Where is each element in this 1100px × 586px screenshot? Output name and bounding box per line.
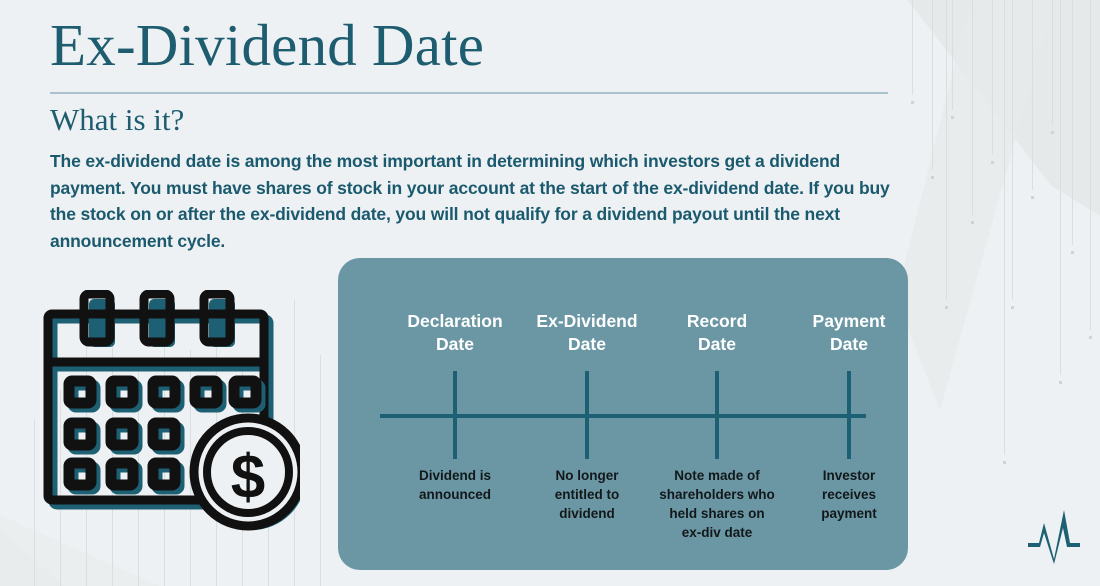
decor-dot (931, 176, 934, 179)
milestone-heading-line: Date (642, 333, 792, 356)
timeline-panel: DeclarationDateDividend isannouncedEx-Di… (338, 258, 908, 570)
decor-dot (1059, 381, 1062, 384)
timeline-tick (453, 371, 457, 459)
timeline-tick (585, 371, 589, 459)
decor-line (1072, 0, 1073, 245)
decor-line (912, 0, 913, 95)
milestone-heading: RecordDate (642, 310, 792, 357)
title-divider (50, 92, 888, 94)
decor-dot (945, 306, 948, 309)
decor-dot (1003, 461, 1006, 464)
decor-dot (951, 116, 954, 119)
milestone-heading-line: Ex-Dividend (512, 310, 662, 333)
calendar-with-dollar-coin-icon: $ (38, 290, 300, 540)
decor-line (320, 355, 321, 586)
decor-dot (1071, 251, 1074, 254)
decor-line (972, 0, 973, 215)
milestone-description-line: receives (783, 485, 915, 504)
milestone-heading: Ex-DividendDate (512, 310, 662, 357)
body-paragraph: The ex-dividend date is among the most i… (50, 148, 910, 254)
milestone-description-line: ex-div date (651, 523, 783, 542)
milestone-description: Investorreceivespayment (783, 466, 915, 523)
svg-text:$: $ (231, 443, 265, 512)
decor-line (1060, 0, 1061, 375)
decor-dot (1031, 196, 1034, 199)
timeline-tick (847, 371, 851, 459)
milestone-description-line: announced (389, 485, 521, 504)
decor-dot (1011, 306, 1014, 309)
milestone-description-line: Investor (783, 466, 915, 485)
decor-dot (911, 101, 914, 104)
milestone-description-line: payment (783, 504, 915, 523)
marketbeat-pulse-m-logo (1022, 502, 1086, 566)
milestone-heading-line: Date (512, 333, 662, 356)
decor-dot (991, 161, 994, 164)
milestone-description-line: Note made of (651, 466, 783, 485)
milestone-heading: PaymentDate (774, 310, 924, 357)
section-subtitle: What is it? (50, 102, 184, 138)
decor-line (1032, 0, 1033, 190)
milestone-heading-line: Declaration (380, 310, 530, 333)
decor-line (1052, 0, 1053, 125)
decor-line (946, 0, 947, 300)
milestone-heading-line: Payment (774, 310, 924, 333)
page-title: Ex-Dividend Date (50, 14, 484, 78)
milestone-description-line: dividend (521, 504, 653, 523)
milestone-description-line: shareholders who (651, 485, 783, 504)
milestone-description-line: held shares on (651, 504, 783, 523)
milestone-description-line: entitled to (521, 485, 653, 504)
milestone-heading-line: Date (774, 333, 924, 356)
decor-line (992, 0, 993, 155)
milestone-heading-line: Date (380, 333, 530, 356)
timeline-tick (715, 371, 719, 459)
infographic-page: Ex-Dividend Date What is it? The ex-divi… (0, 0, 1100, 586)
milestone-description: No longerentitled todividend (521, 466, 653, 523)
milestone-description: Dividend isannounced (389, 466, 521, 504)
decor-line (952, 0, 953, 110)
decor-line (1090, 0, 1091, 330)
decor-line (1004, 0, 1005, 455)
milestone-heading-line: Record (642, 310, 792, 333)
decor-dot (971, 221, 974, 224)
decor-line (932, 0, 933, 170)
decor-dot (1051, 131, 1054, 134)
milestone-description-line: Dividend is (389, 466, 521, 485)
decor-dot (1089, 336, 1092, 339)
milestone-description: Note made ofshareholders whoheld shares … (651, 466, 783, 543)
milestone-description-line: No longer (521, 466, 653, 485)
milestone-heading: DeclarationDate (380, 310, 530, 357)
decor-line (1012, 0, 1013, 300)
decor-line (34, 420, 35, 586)
